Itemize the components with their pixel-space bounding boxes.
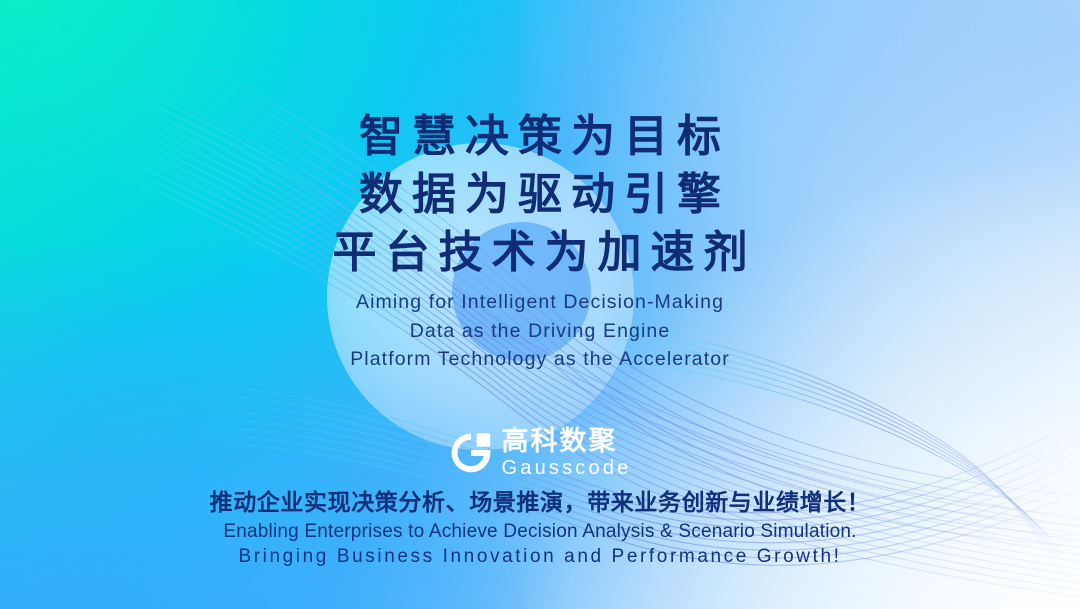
- logo-name-en: Gausscode: [502, 458, 632, 478]
- banner-content: 智慧决策为目标 数据为驱动引擎 平台技术为加速剂 Aiming for Inte…: [0, 0, 1080, 609]
- subheadline-line-3: Platform Technology as the Accelerator: [0, 345, 1080, 374]
- headline-line-2: 数据为驱动引擎: [0, 166, 1080, 224]
- tagline-chinese: 推动企业实现决策分析、场景推演，带来业务创新与业绩增长！: [0, 483, 1080, 517]
- headline-line-3: 平台技术为加速剂: [0, 224, 1080, 282]
- headline-line-1: 智慧决策为目标: [0, 108, 1080, 166]
- gausscode-g-mark-icon: [449, 431, 493, 475]
- tagline-english-line-1: Enabling Enterprises to Achieve Decision…: [0, 519, 1080, 544]
- tagline-english-line-2: Bringing Business Innovation and Perform…: [0, 544, 1080, 569]
- tagline-english: Enabling Enterprises to Achieve Decision…: [0, 519, 1080, 569]
- logo-wordmark: 高科数聚 Gausscode: [502, 428, 632, 478]
- company-logo: 高科数聚 Gausscode: [0, 428, 1080, 478]
- marketing-banner: 智慧决策为目标 数据为驱动引擎 平台技术为加速剂 Aiming for Inte…: [0, 0, 1080, 609]
- subheadline-line-2: Data as the Driving Engine: [0, 317, 1080, 346]
- subheadline-line-1: Aiming for Intelligent Decision-Making: [0, 288, 1080, 317]
- logo-name-cn: 高科数聚: [502, 428, 618, 455]
- subheadline: Aiming for Intelligent Decision-Making D…: [0, 288, 1080, 374]
- headline: 智慧决策为目标 数据为驱动引擎 平台技术为加速剂: [0, 108, 1080, 282]
